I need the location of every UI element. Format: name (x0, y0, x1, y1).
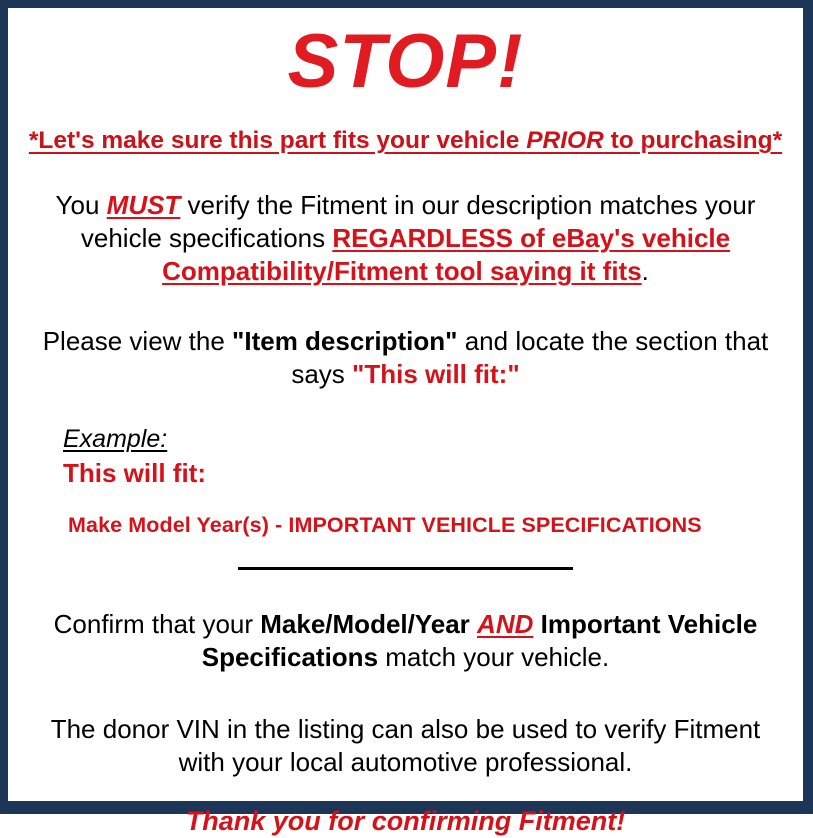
example-spec-line: Make Model Year(s) - IMPORTANT VEHICLE S… (63, 513, 793, 538)
paragraph-donor-vin: The donor VIN in the listing can also be… (18, 713, 793, 780)
subtitle-suffix: to purchasing* (604, 127, 782, 154)
make-model-year-label: Make/Model/Year (260, 609, 470, 639)
confirm-space-1 (470, 609, 477, 639)
must-part3: . (642, 256, 649, 286)
example-block: Example: This will fit: Make Model Year(… (18, 425, 793, 538)
paragraph-confirm: Confirm that your Make/Model/Year AND Im… (18, 608, 793, 675)
paragraph-must-verify: You MUST verify the Fitment in our descr… (18, 189, 793, 289)
must-part1: You (56, 190, 107, 220)
fitment-notice-card: STOP! *Let's make sure this part fits yo… (0, 0, 813, 814)
confirm-space-2 (533, 609, 540, 639)
and-keyword: AND (477, 609, 533, 639)
section-divider (238, 567, 573, 570)
paragraph-item-description: Please view the "Item description" and l… (18, 325, 793, 392)
example-label: Example: (63, 425, 167, 454)
confirm-part2: match your vehicle. (378, 642, 609, 672)
divider-container (18, 560, 793, 578)
example-fit-heading: This will fit: (63, 458, 793, 489)
confirm-part1: Confirm that your (54, 609, 261, 639)
this-will-fit-quote: "This will fit:" (352, 359, 520, 389)
subtitle-emphasis: PRIOR (526, 127, 604, 154)
item-description-label: "Item description" (232, 326, 457, 356)
example-label-row: Example: (63, 425, 793, 454)
page-title: STOP! (18, 24, 793, 100)
closing-line: Thank you for confirming Fitment! (18, 805, 793, 837)
desc-part1: Please view the (43, 326, 232, 356)
subtitle-banner: *Let's make sure this part fits your veh… (18, 128, 793, 155)
must-keyword: MUST (107, 190, 181, 220)
subtitle-prefix: *Let's make sure this part fits your veh… (29, 127, 526, 154)
notice-content: STOP! *Let's make sure this part fits yo… (8, 24, 803, 817)
